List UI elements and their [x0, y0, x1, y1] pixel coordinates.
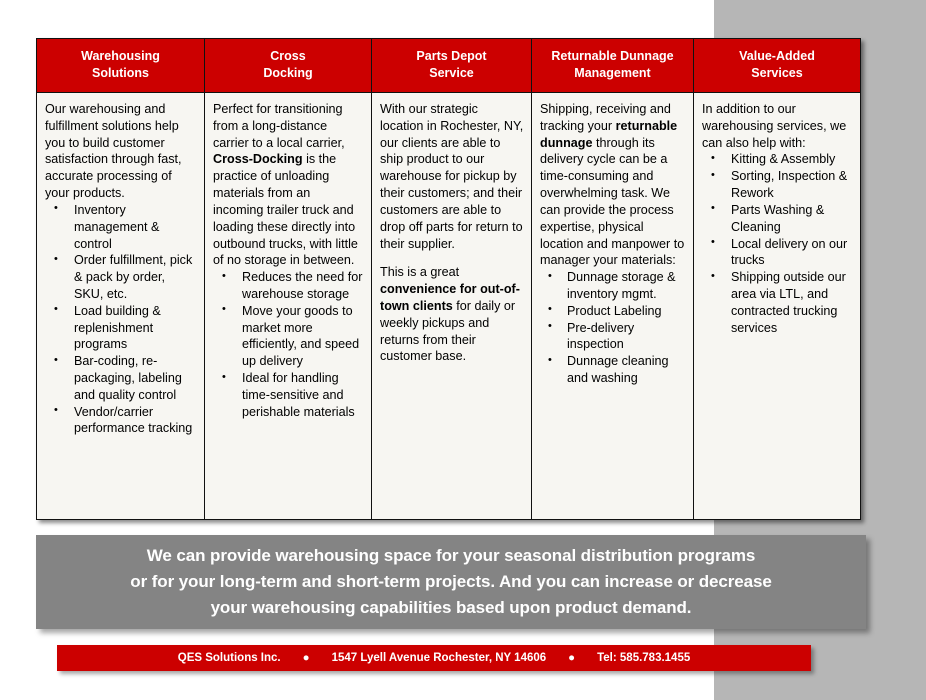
- highlight-message-banner: We can provide warehousing space for you…: [36, 535, 866, 629]
- intro-paragraph: Shipping, receiving and tracking your re…: [540, 101, 686, 269]
- slide-canvas: Warehousing Solutions Cross Docking Part…: [0, 0, 926, 700]
- list-item: Order fulfillment, pick & pack by order,…: [45, 252, 197, 302]
- intro-paragraph: In addition to our warehousing services,…: [702, 101, 853, 151]
- list-item: Dunnage cleaning and washing: [540, 353, 686, 387]
- intro-paragraph: With our strategic location in Rochester…: [380, 101, 524, 252]
- message-line-2: or for your long-term and short-term pro…: [130, 569, 771, 595]
- table-body-row: Our warehousing and fulfillment solution…: [37, 93, 861, 520]
- header-line-2: Service: [376, 65, 527, 82]
- cell-value-added-services: In addition to our warehousing services,…: [694, 93, 861, 520]
- header-line-1: Value-Added: [698, 48, 856, 65]
- bullet-list: Kitting & Assembly Sorting, Inspection &…: [702, 151, 853, 336]
- list-item: Reduces the need for warehouse storage: [213, 269, 364, 303]
- intro-text-part-1: Perfect for transitioning from a long-di…: [213, 102, 345, 150]
- list-item: Vendor/carrier performance tracking: [45, 404, 197, 438]
- list-item: Inventory management & control: [45, 202, 197, 252]
- message-line-1: We can provide warehousing space for you…: [147, 543, 755, 569]
- services-comparison-table: Warehousing Solutions Cross Docking Part…: [36, 38, 861, 520]
- list-item: Sorting, Inspection & Rework: [702, 168, 853, 202]
- column-header-warehousing-solutions: Warehousing Solutions: [37, 39, 205, 93]
- list-item: Move your goods to market more efficient…: [213, 303, 364, 370]
- list-item: Product Labeling: [540, 303, 686, 320]
- bullet-separator-icon: ●: [546, 652, 597, 664]
- cell-warehousing-solutions: Our warehousing and fulfillment solution…: [37, 93, 205, 520]
- intro-text-part-2: through its delivery cycle can be a time…: [540, 136, 684, 268]
- list-item: Dunnage storage & inventory mgmt.: [540, 269, 686, 303]
- list-item: Shipping outside our area via LTL, and c…: [702, 269, 853, 336]
- bullet-list: Reduces the need for warehouse storage M…: [213, 269, 364, 420]
- header-line-2: Docking: [209, 65, 367, 82]
- bullet-list: Inventory management & control Order ful…: [45, 202, 197, 437]
- cell-body: In addition to our warehousing services,…: [702, 101, 853, 336]
- cell-parts-depot-service: With our strategic location in Rochester…: [372, 93, 532, 520]
- cell-returnable-dunnage-management: Shipping, receiving and tracking your re…: [532, 93, 694, 520]
- list-item: Parts Washing & Cleaning: [702, 202, 853, 236]
- cell-body: With our strategic location in Rochester…: [380, 101, 524, 365]
- intro-emphasis: Cross-Docking: [213, 152, 303, 166]
- cell-body: Perfect for transitioning from a long-di…: [213, 101, 364, 420]
- footer-address: 1547 Lyell Avenue Rochester, NY 14606: [332, 652, 547, 664]
- list-item: Bar-coding, re-packaging, labeling and q…: [45, 353, 197, 403]
- column-header-returnable-dunnage-management: Returnable Dunnage Management: [532, 39, 694, 93]
- cell-body: Our warehousing and fulfillment solution…: [45, 101, 197, 437]
- cell-body: Shipping, receiving and tracking your re…: [540, 101, 686, 387]
- list-item: Load building & replenishment programs: [45, 303, 197, 353]
- intro-text-part-2: is the practice of unloading materials f…: [213, 152, 358, 267]
- column-header-parts-depot-service: Parts Depot Service: [372, 39, 532, 93]
- message-line-3: your warehousing capabilities based upon…: [211, 595, 692, 621]
- list-item: Kitting & Assembly: [702, 151, 853, 168]
- column-header-value-added-services: Value-Added Services: [694, 39, 861, 93]
- list-item: Pre-delivery inspection: [540, 320, 686, 354]
- second-text-part-1: This is a great: [380, 265, 459, 279]
- bullet-separator-icon: ●: [281, 652, 332, 664]
- header-line-2: Management: [536, 65, 689, 82]
- second-paragraph: This is a great convenience for out-of-t…: [380, 264, 524, 365]
- column-header-cross-docking: Cross Docking: [205, 39, 372, 93]
- header-line-2: Solutions: [41, 65, 200, 82]
- header-line-1: Parts Depot: [376, 48, 527, 65]
- table-header-row: Warehousing Solutions Cross Docking Part…: [37, 39, 861, 93]
- header-line-1: Cross: [209, 48, 367, 65]
- footer-company-name: QES Solutions Inc.: [178, 652, 281, 664]
- header-line-1: Warehousing: [41, 48, 200, 65]
- header-line-2: Services: [698, 65, 856, 82]
- bullet-list: Dunnage storage & inventory mgmt. Produc…: [540, 269, 686, 387]
- contact-footer-bar: QES Solutions Inc. ● 1547 Lyell Avenue R…: [57, 645, 811, 671]
- header-line-1: Returnable Dunnage: [536, 48, 689, 65]
- cell-cross-docking: Perfect for transitioning from a long-di…: [205, 93, 372, 520]
- footer-phone: Tel: 585.783.1455: [597, 652, 690, 664]
- intro-paragraph: Our warehousing and fulfillment solution…: [45, 101, 197, 202]
- list-item: Ideal for handling time-sensitive and pe…: [213, 370, 364, 420]
- intro-paragraph: Perfect for transitioning from a long-di…: [213, 101, 364, 269]
- list-item: Local delivery on our trucks: [702, 236, 853, 270]
